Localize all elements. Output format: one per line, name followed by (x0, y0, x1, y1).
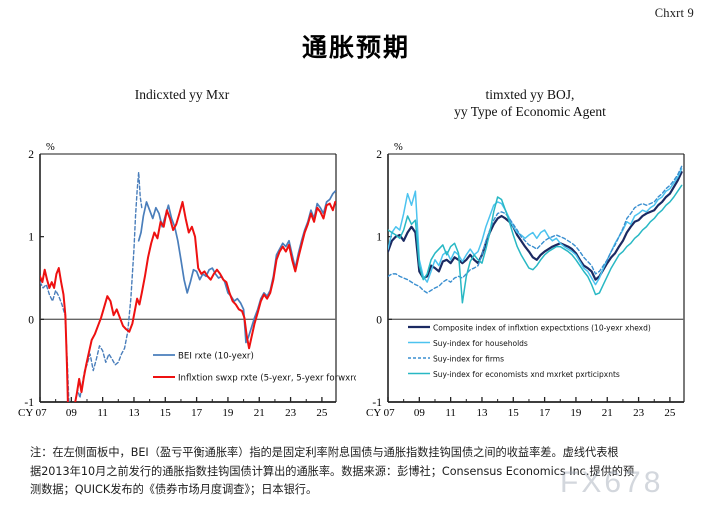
svg-text:23: 23 (285, 407, 297, 419)
svg-text:Suy-index for households: Suy-index for households (433, 339, 528, 348)
svg-text:Composite index of inflxtion e: Composite index of inflxtion expectxtion… (433, 323, 651, 332)
svg-text:09: 09 (66, 407, 78, 419)
svg-text:23: 23 (633, 407, 645, 419)
chart-page: Chxrt 9 通胀预期 Indicxted yy Mxr -1012%CY 0… (0, 0, 712, 516)
svg-text:BEI rxte (10-yexr): BEI rxte (10-yexr) (178, 351, 254, 361)
page-title: 通胀预期 (0, 28, 712, 64)
svg-text:CY 07: CY 07 (18, 407, 47, 419)
left-chart-plot: -1012%CY 07091113151719212325BEI rxte (1… (8, 80, 356, 425)
svg-text:%: % (394, 142, 403, 153)
svg-text:09: 09 (414, 407, 426, 419)
svg-text:17: 17 (539, 407, 551, 419)
svg-text:15: 15 (160, 407, 172, 419)
svg-text:Suy-index for economists xnd m: Suy-index for economists xnd mxrket pxrt… (433, 370, 620, 379)
svg-text:21: 21 (254, 407, 265, 419)
svg-text:Suy-index for firms: Suy-index for firms (433, 354, 504, 363)
svg-text:11: 11 (445, 407, 456, 419)
svg-text:CY 07: CY 07 (366, 407, 395, 419)
svg-text:13: 13 (128, 407, 140, 419)
svg-text:0: 0 (28, 314, 34, 326)
footnote-line-3: 测数据；QUICK发布的《债券市场月度调查》；日本银行。 (30, 481, 690, 500)
svg-text:13: 13 (476, 407, 488, 419)
footnote: 注：在左侧面板中，BEI（盈亏平衡通胀率）指的是固定利率附息国债与通胀指数挂钩国… (30, 444, 690, 500)
right-chart-panel: timxted yy BOJ, yy Type of Economic Agen… (356, 80, 704, 425)
left-chart-panel: Indicxted yy Mxr -1012%CY 07091113151719… (8, 80, 356, 425)
svg-text:11: 11 (97, 407, 108, 419)
svg-text:15: 15 (508, 407, 520, 419)
chart-number-label: Chxrt 9 (655, 6, 694, 21)
svg-text:1: 1 (28, 232, 34, 244)
svg-text:%: % (46, 142, 55, 153)
svg-text:2: 2 (376, 149, 382, 161)
svg-text:21: 21 (602, 407, 613, 419)
svg-text:25: 25 (316, 407, 328, 419)
svg-text:19: 19 (222, 407, 234, 419)
right-chart-plot: -1012%CY 07091113151719212325Composite i… (356, 80, 704, 425)
svg-text:19: 19 (570, 407, 582, 419)
footnote-line-2: 据2013年10月之前发行的通胀指数挂钩国债计算出的通胀率。数据来源：彭博社；C… (30, 463, 690, 482)
svg-text:25: 25 (664, 407, 676, 419)
svg-text:17: 17 (191, 407, 203, 419)
svg-text:1: 1 (376, 232, 382, 244)
svg-text:Inflxtion swxp rxte (5-yexr, 5: Inflxtion swxp rxte (5-yexr, 5-yexr forw… (178, 373, 356, 383)
svg-text:2: 2 (28, 149, 34, 161)
svg-text:0: 0 (376, 314, 382, 326)
footnote-line-1: 注：在左侧面板中，BEI（盈亏平衡通胀率）指的是固定利率附息国债与通胀指数挂钩国… (30, 444, 690, 463)
